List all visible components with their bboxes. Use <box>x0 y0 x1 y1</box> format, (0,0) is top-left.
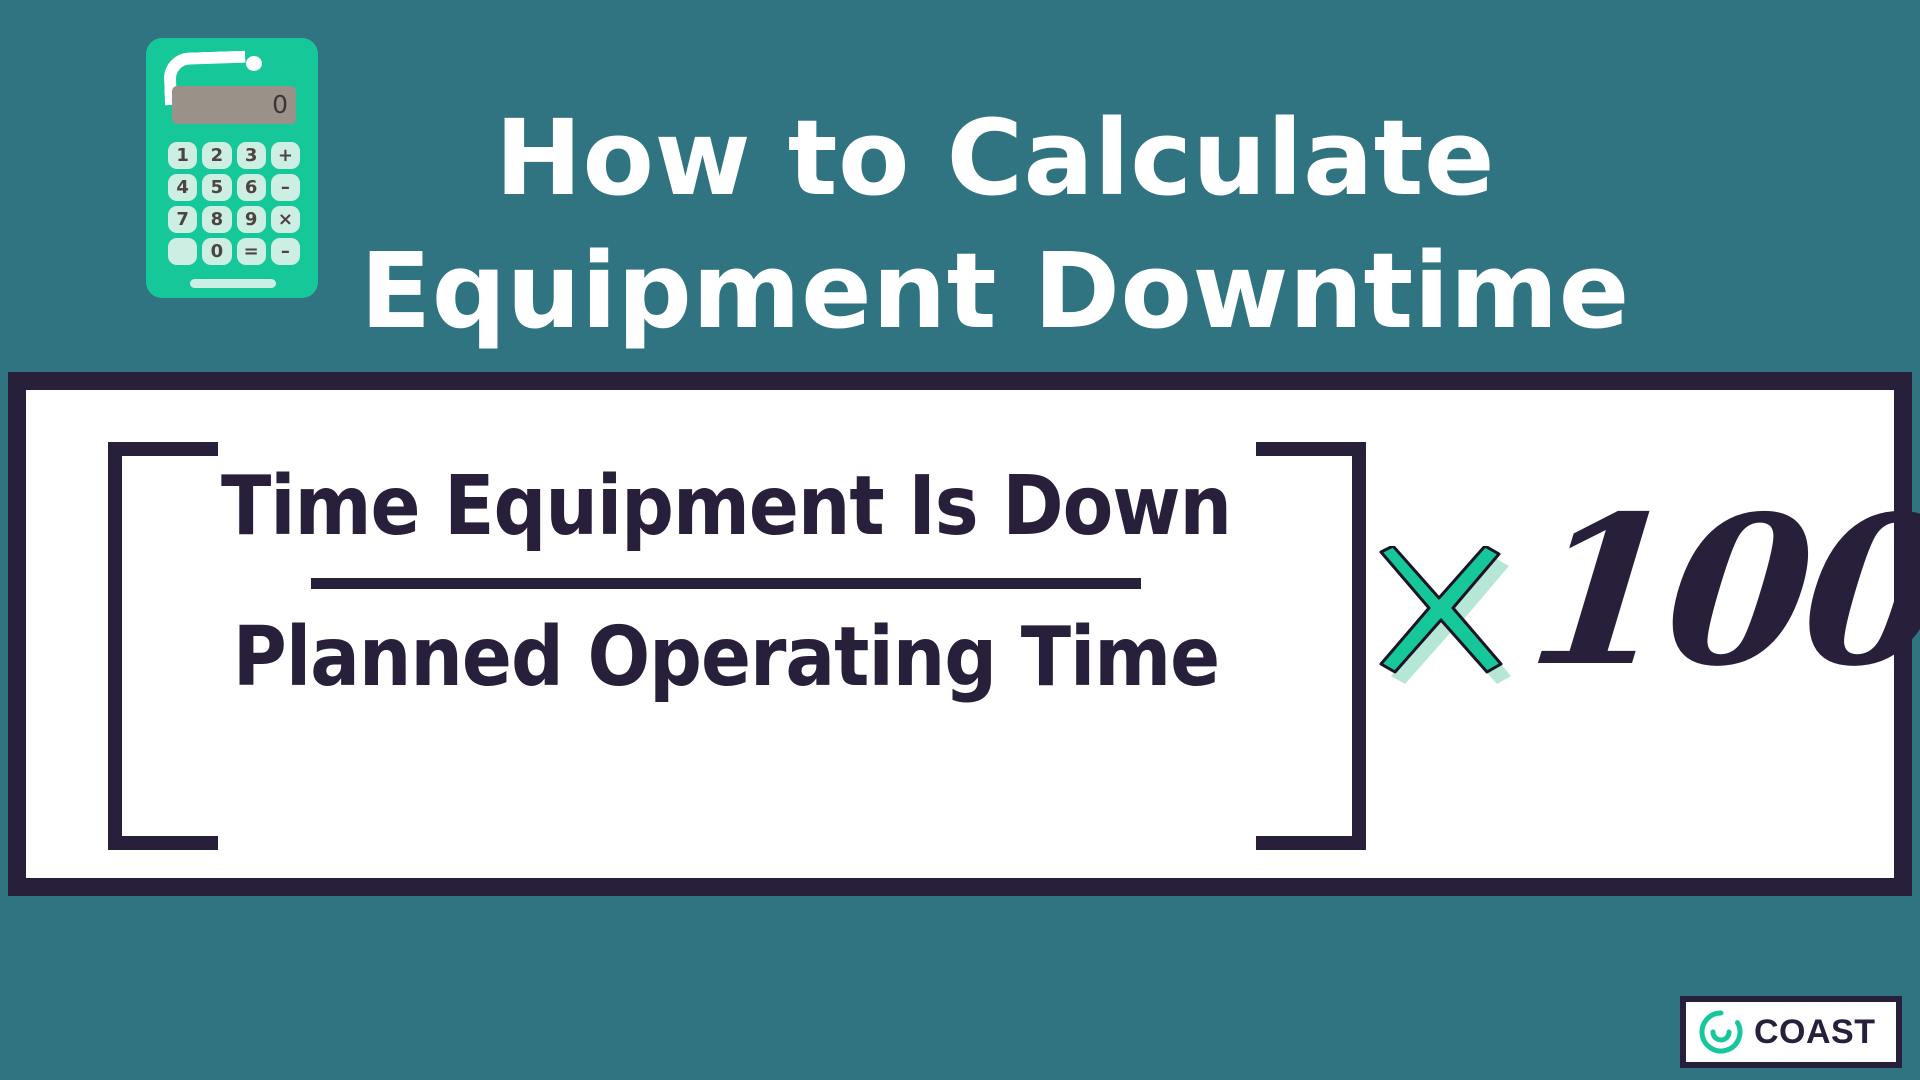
calculator-key-6[interactable]: 6 <box>237 174 266 201</box>
calculator-key-blank[interactable] <box>168 238 197 265</box>
fraction-bar <box>311 578 1141 589</box>
page-title-line-2: Equipment Downtime <box>330 225 1660 358</box>
multiplier-value: 100 <box>1521 490 1920 695</box>
calculator-key-9[interactable]: 9 <box>237 206 266 233</box>
calculator-key-2[interactable]: 2 <box>202 142 231 169</box>
calculator-key-0[interactable]: 0 <box>202 238 231 265</box>
page-title-line-1: How to Calculate <box>330 92 1660 225</box>
calculator-key-equals[interactable]: = <box>237 238 266 265</box>
calculator-key-minus[interactable]: – <box>271 174 300 201</box>
calculator-key-multiply[interactable]: × <box>271 206 300 233</box>
calculator-key-minus-2[interactable]: – <box>271 238 300 265</box>
coast-circle-smile-icon <box>1698 1009 1744 1055</box>
calculator-highlight-dot-icon <box>246 56 262 71</box>
calculator-key-1[interactable]: 1 <box>168 142 197 169</box>
calculator-foot <box>190 279 276 288</box>
calculator-display: 0 <box>172 86 296 124</box>
calculator-key-8[interactable]: 8 <box>202 206 231 233</box>
header-band: 0 1 2 3 + 4 5 6 – 7 8 9 × 0 = – H <box>0 0 1920 368</box>
poster-canvas: 0 1 2 3 + 4 5 6 – 7 8 9 × 0 = – H <box>0 0 1920 1080</box>
multiply-x-icon <box>1373 546 1525 696</box>
calculator-key-5[interactable]: 5 <box>202 174 231 201</box>
calculator-key-plus[interactable]: + <box>271 142 300 169</box>
fraction-denominator: Planned Operating Time <box>176 607 1276 705</box>
calculator-illustration: 0 1 2 3 + 4 5 6 – 7 8 9 × 0 = – <box>146 38 318 298</box>
coast-logo[interactable]: COAST <box>1680 996 1902 1068</box>
calculator-key-3[interactable]: 3 <box>237 142 266 169</box>
coast-wordmark: COAST <box>1754 1015 1876 1049</box>
calculator-key-4[interactable]: 4 <box>168 174 197 201</box>
calculator-keypad: 1 2 3 + 4 5 6 – 7 8 9 × 0 = – <box>168 142 300 265</box>
bracket-right-icon <box>1246 442 1366 850</box>
page-title: How to Calculate Equipment Downtime <box>330 92 1660 358</box>
fraction-numerator: Time Equipment Is Down <box>176 460 1276 568</box>
downtime-fraction: Time Equipment Is Down Planned Operating… <box>176 460 1276 706</box>
calculator-key-7[interactable]: 7 <box>168 206 197 233</box>
